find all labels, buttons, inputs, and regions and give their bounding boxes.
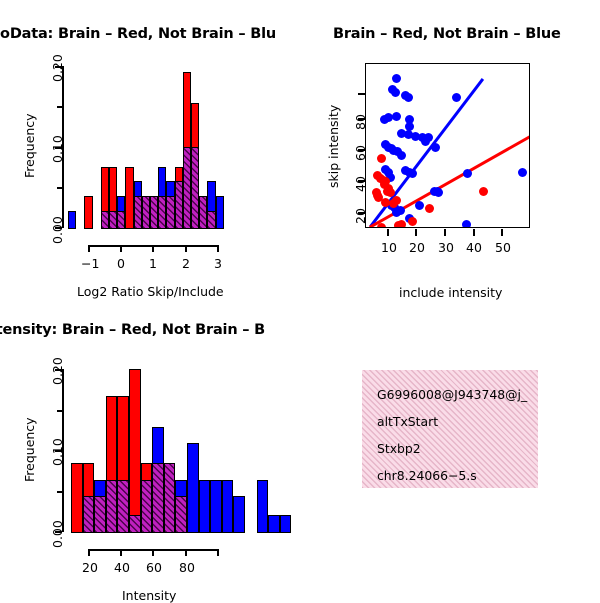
gene-hist-x-tick-20	[88, 549, 90, 556]
scatter-y-ticklabel-60: 60	[353, 145, 368, 161]
info-line-probe-id: G6996008@J943748@j_	[377, 387, 527, 402]
info-line-event-type: altTxStart	[377, 414, 438, 429]
scatter-point	[415, 201, 424, 210]
scatter-point	[463, 169, 472, 178]
scatter-x-ticklabel-40: 40	[466, 240, 482, 255]
ratio-hist-x-ticklabel--1: −1	[81, 256, 99, 271]
gene-hist-x-ticklabel-20: 20	[82, 560, 98, 575]
scatter-point	[392, 112, 401, 121]
scatter-y-axis-label: skip intensity	[326, 105, 341, 188]
ratio-hist-plot-area	[0, 0, 300, 300]
panel-ratio-histogram: RatioData: Brain – Red, Not Brain – Blu …	[0, 0, 300, 300]
bar-blue	[222, 480, 234, 533]
scatter-x-tick-50	[501, 229, 503, 236]
bar-overlap	[117, 480, 129, 533]
ratio-hist-x-tick-0	[120, 245, 122, 252]
scatter-x-tick-30	[444, 229, 446, 236]
gene-hist-plot-area	[0, 300, 300, 600]
bar-overlap	[94, 496, 106, 533]
scatter-point	[377, 154, 386, 163]
bar-blue	[257, 480, 269, 533]
info-line-locus: chr8.24066−5.s	[377, 468, 477, 483]
scatter-x-ticklabel-10: 10	[381, 240, 397, 255]
ratio-hist-x-axis-label: Log2 Ratio Skip/Include	[77, 284, 224, 299]
bar-overlap	[175, 181, 183, 229]
gene-hist-x-ticklabel-60: 60	[146, 560, 162, 575]
bar-overlap	[101, 211, 109, 229]
ratio-hist-x-ticklabel-0: 0	[117, 256, 125, 271]
bar-blue	[210, 480, 222, 533]
scatter-x-tick-40	[473, 229, 475, 236]
scatter-point	[434, 188, 443, 197]
scatter-x-ticklabel-20: 20	[409, 240, 425, 255]
panel-info: G6996008@J943748@j_ altTxStart Stxbp2 ch…	[300, 300, 600, 600]
bar-overlap	[183, 147, 191, 229]
bar-red	[84, 196, 92, 229]
scatter-point	[431, 143, 440, 152]
panel-gene-intensity-histogram: ne Itensity: Brain – Red, Not Brain – B …	[0, 300, 300, 600]
bar-overlap	[106, 480, 118, 533]
bar-overlap	[207, 211, 215, 229]
bar-overlap	[150, 196, 158, 229]
panel-intensity-scatter: Brain – Red, Not Brain – Blue	[300, 0, 600, 300]
scatter-point	[408, 169, 417, 178]
gene-hist-x-ticklabel-80: 80	[179, 560, 195, 575]
scatter-point	[462, 220, 471, 228]
bar-red	[125, 167, 133, 229]
bar-overlap	[166, 196, 174, 229]
bar-blue	[216, 196, 224, 229]
scatter-y-ticklabel-40: 40	[353, 176, 368, 192]
scatter-plot-area	[365, 63, 530, 228]
scatter-point	[479, 187, 488, 196]
scatter-title: Brain – Red, Not Brain – Blue	[333, 26, 561, 42]
bar-blue	[233, 496, 245, 533]
bar-overlap	[191, 147, 199, 229]
scatter-point	[377, 223, 386, 228]
bar-red	[129, 369, 141, 533]
scatter-point	[396, 206, 405, 215]
scatter-x-axis-label: include intensity	[399, 285, 502, 300]
ratio-hist-x-tick--1	[88, 245, 90, 252]
bar-overlap	[141, 480, 153, 533]
ratio-hist-x-tick-2	[185, 245, 187, 252]
scatter-x-ticklabel-30: 30	[438, 240, 454, 255]
info-panel-box: G6996008@J943748@j_ altTxStart Stxbp2 ch…	[362, 370, 538, 488]
bar-overlap	[117, 211, 125, 229]
scatter-point	[425, 204, 434, 213]
scatter-x-ticklabel-50: 50	[495, 240, 511, 255]
figure-canvas: RatioData: Brain – Red, Not Brain – Blu …	[0, 0, 600, 600]
scatter-x-tick-20	[415, 229, 417, 236]
scatter-point	[421, 137, 430, 146]
scatter-point	[397, 151, 406, 160]
scatter-y-ticklabel-80: 80	[353, 114, 368, 130]
scatter-y-tick-100	[358, 93, 365, 95]
gene-hist-x-axis-label: Intensity	[122, 588, 176, 603]
bar-overlap	[164, 463, 176, 533]
scatter-point	[392, 74, 401, 83]
gene-hist-x-tick-100	[217, 549, 219, 556]
scatter-point	[452, 93, 461, 102]
ratio-hist-x-tick-3	[217, 245, 219, 252]
bar-overlap	[134, 196, 142, 229]
ratio-hist-x-ticklabel-2: 2	[182, 256, 190, 271]
bar-blue	[187, 443, 199, 533]
bar-overlap	[152, 463, 164, 533]
bar-blue	[199, 480, 211, 533]
scatter-x-tick-10	[387, 229, 389, 236]
ratio-hist-x-ticklabel-3: 3	[214, 256, 222, 271]
gene-hist-x-ticklabel-40: 40	[114, 560, 130, 575]
bar-overlap	[109, 211, 117, 229]
scatter-y-ticklabel-20: 20	[353, 208, 368, 224]
scatter-point	[397, 220, 406, 228]
bar-blue	[268, 515, 280, 533]
bar-red	[71, 463, 83, 533]
bar-overlap	[129, 515, 141, 533]
ratio-hist-x-ticklabel-1: 1	[149, 256, 157, 271]
scatter-point	[391, 88, 400, 97]
gene-hist-x-tick-80	[185, 549, 187, 556]
ratio-hist-x-tick-1	[152, 245, 154, 252]
bar-overlap	[199, 196, 207, 229]
info-line-gene-symbol: Stxbp2	[377, 441, 421, 456]
gene-hist-x-tick-60	[152, 549, 154, 556]
bar-blue	[280, 515, 292, 533]
scatter-point	[518, 168, 527, 177]
bar-overlap	[83, 496, 95, 533]
bar-overlap	[142, 196, 150, 229]
scatter-point	[408, 217, 417, 226]
bar-overlap	[158, 196, 166, 229]
gene-hist-x-tick-40	[120, 549, 122, 556]
bar-overlap	[175, 496, 187, 533]
scatter-point	[392, 196, 401, 205]
scatter-point	[404, 93, 413, 102]
bar-blue	[68, 211, 76, 229]
